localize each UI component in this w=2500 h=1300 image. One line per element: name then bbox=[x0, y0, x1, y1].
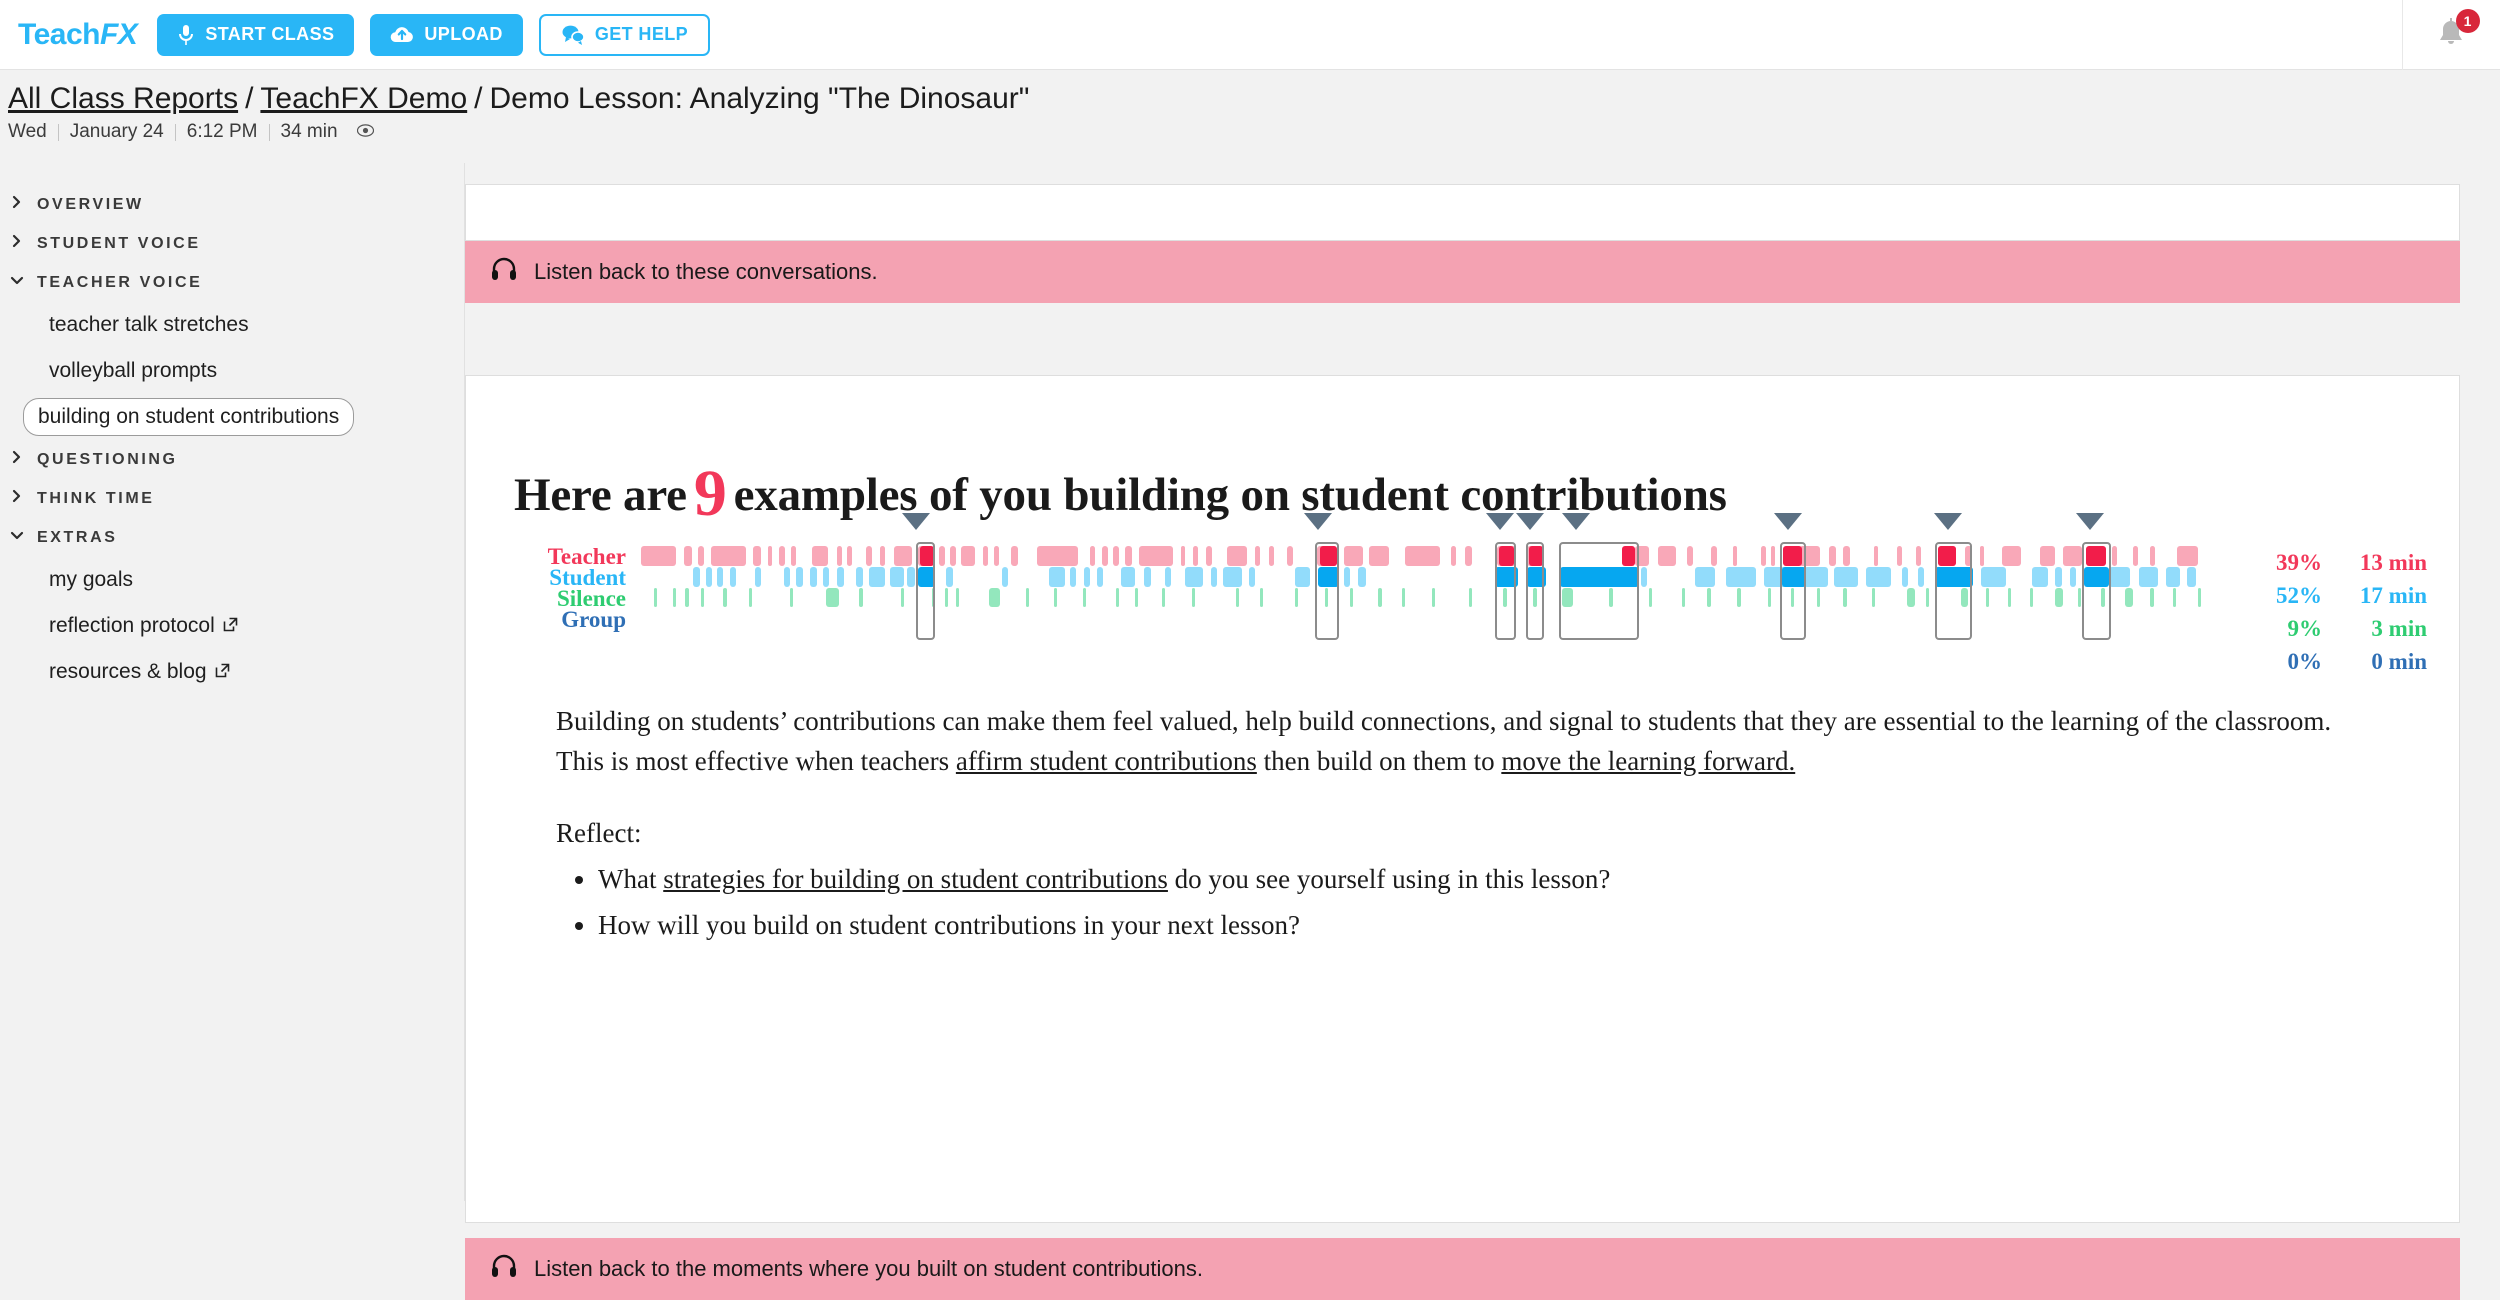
timeline-segment bbox=[791, 546, 796, 566]
timeline-legend: Teacher Student Silence Group bbox=[544, 546, 626, 630]
timeline-segment bbox=[753, 546, 761, 566]
chevron-right-icon bbox=[10, 234, 24, 253]
timeline-segment bbox=[673, 588, 676, 607]
timeline-segment bbox=[654, 588, 657, 607]
breadcrumb-area: All Class Reports/TeachFX Demo/Demo Less… bbox=[0, 70, 2500, 163]
timeline-segment bbox=[1162, 588, 1165, 607]
timeline-marker-icon[interactable] bbox=[1934, 513, 1962, 530]
timeline-segment bbox=[945, 588, 948, 607]
timeline-segment bbox=[1402, 588, 1405, 607]
timeline-segment bbox=[2055, 567, 2061, 587]
timeline-segment bbox=[1116, 588, 1119, 607]
timeline-row-silence bbox=[638, 588, 2220, 607]
link-strategies-for-building[interactable]: strategies for building on student contr… bbox=[663, 864, 1168, 894]
timeline-segment bbox=[859, 588, 862, 607]
timeline-segment bbox=[1658, 546, 1675, 566]
timeline-segment bbox=[2063, 546, 2082, 566]
breadcrumb-item-all-class-reports[interactable]: All Class Reports bbox=[8, 82, 238, 115]
timeline-highlight-box[interactable] bbox=[1526, 542, 1545, 640]
timeline-stats: 39% 13 min 52% 17 min 9% 3 min 0% 0 min bbox=[2256, 546, 2427, 678]
sidebar-group-label: QUESTIONING bbox=[37, 451, 178, 469]
description-paragraph: Building on students’ contributions can … bbox=[556, 702, 2366, 782]
breadcrumb-item-teachfx-demo[interactable]: TeachFX Demo bbox=[260, 82, 467, 115]
chat-bubbles-icon bbox=[561, 24, 585, 45]
sidebar-group-label: OVERVIEW bbox=[37, 196, 144, 214]
headphones-icon bbox=[491, 1254, 517, 1284]
timeline-segment bbox=[1378, 588, 1381, 607]
timeline-segment bbox=[1866, 567, 1891, 587]
link-move-learning-forward[interactable]: move the learning forward. bbox=[1501, 746, 1795, 776]
sidebar-item-building-on-student-contributions[interactable]: building on student contributions bbox=[23, 398, 354, 436]
chevron-right-icon bbox=[10, 195, 24, 214]
top-card bbox=[465, 184, 2460, 241]
timeline-segment bbox=[768, 546, 773, 566]
timeline-segment bbox=[961, 546, 975, 566]
timeline-segment bbox=[2150, 546, 2155, 566]
timeline-highlight-box[interactable] bbox=[2082, 542, 2110, 640]
sidebar-group-teacher-voice[interactable]: TEACHER VOICE bbox=[0, 263, 464, 302]
timeline-segment bbox=[1829, 546, 1835, 566]
timeline-segment bbox=[1916, 546, 1921, 566]
main-content: Listen back to these conversations. Here… bbox=[465, 163, 2500, 1201]
timeline-segment bbox=[1986, 588, 1989, 607]
sidebar-item-my-goals[interactable]: my goals bbox=[37, 561, 145, 599]
sidebar-item-label: my goals bbox=[49, 568, 133, 592]
timeline-segment bbox=[2032, 567, 2048, 587]
timeline-segment bbox=[826, 588, 839, 607]
timeline-segment bbox=[1083, 588, 1086, 607]
upload-label: UPLOAD bbox=[424, 24, 502, 45]
timeline-segment bbox=[1358, 567, 1366, 587]
timeline-segment bbox=[1054, 588, 1057, 607]
headline-count: 9 bbox=[687, 457, 734, 530]
timeline-segment bbox=[730, 567, 736, 587]
timeline-segment bbox=[1102, 546, 1108, 566]
stat-row-group: 0% 0 min bbox=[2256, 645, 2427, 678]
legend-label-teacher: Teacher bbox=[544, 546, 626, 567]
chevron-right-icon bbox=[10, 450, 24, 469]
timeline-segment bbox=[779, 546, 785, 566]
timeline-segment bbox=[847, 546, 852, 566]
timeline-segment bbox=[1090, 546, 1095, 566]
timeline-segment bbox=[2150, 588, 2153, 607]
notification-badge: 1 bbox=[2456, 9, 2480, 33]
stat-percent-student: 52% bbox=[2256, 579, 2322, 612]
top-bar: TeachFX START CLASS UPLOAD GET HELP 1 bbox=[0, 0, 2500, 70]
reflect-item-1-pre: How will you build on student contributi… bbox=[598, 910, 1300, 940]
sidebar-item-volleyball-prompts[interactable]: volleyball prompts bbox=[37, 352, 229, 390]
timeline-segment bbox=[1206, 546, 1212, 566]
timeline-segment bbox=[1737, 588, 1740, 607]
start-class-label: START CLASS bbox=[205, 24, 334, 45]
timeline-segment bbox=[880, 546, 885, 566]
lesson-time: 6:12 PM bbox=[176, 121, 269, 143]
timeline-segment bbox=[1227, 546, 1248, 566]
timeline-segment bbox=[1287, 546, 1293, 566]
timeline-row-group bbox=[638, 608, 2220, 626]
timeline-segment bbox=[983, 546, 988, 566]
sidebar: OVERVIEWSTUDENT VOICETEACHER VOICEteache… bbox=[0, 163, 465, 1201]
timeline-segment bbox=[994, 546, 999, 566]
timeline-segment bbox=[701, 588, 704, 607]
timeline-segment bbox=[1181, 546, 1186, 566]
timeline-segment bbox=[2139, 567, 2158, 587]
timeline-segment bbox=[1070, 567, 1076, 587]
listen-back-banner-top[interactable]: Listen back to these conversations. bbox=[465, 241, 2460, 303]
sidebar-item-teacher-talk-stretches[interactable]: teacher talk stretches bbox=[37, 306, 261, 344]
sidebar-item-label: reflection protocol bbox=[49, 614, 215, 638]
timeline-segment bbox=[1687, 546, 1693, 566]
timeline-segment bbox=[1768, 588, 1771, 607]
timeline-segment bbox=[2040, 546, 2056, 566]
timeline-segment bbox=[1260, 588, 1263, 607]
sidebar-item-label: volleyball prompts bbox=[49, 359, 217, 383]
timeline-segment bbox=[706, 567, 712, 587]
timeline-segment bbox=[1711, 546, 1717, 566]
legend-label-silence: Silence bbox=[544, 588, 626, 609]
timeline-segment bbox=[1726, 567, 1756, 587]
timeline-segment bbox=[1223, 567, 1242, 587]
lesson-date: January 24 bbox=[59, 121, 175, 143]
app-logo[interactable]: TeachFX bbox=[18, 18, 137, 52]
timeline-segment bbox=[1139, 546, 1172, 566]
timeline-segment bbox=[1451, 546, 1456, 566]
timeline-segment bbox=[1733, 546, 1738, 566]
headline-prefix: Here are bbox=[514, 469, 687, 521]
legend-label-group: Group bbox=[544, 609, 626, 630]
timeline-segment bbox=[796, 567, 802, 587]
sidebar-group-overview[interactable]: OVERVIEW bbox=[0, 185, 464, 224]
timeline-segment bbox=[749, 588, 752, 607]
breadcrumb-separator-1: / bbox=[245, 82, 253, 115]
breadcrumb: All Class Reports/TeachFX Demo/Demo Less… bbox=[8, 81, 2500, 116]
headphones-icon bbox=[491, 257, 517, 287]
timeline-segment bbox=[1369, 546, 1390, 566]
timeline-segment bbox=[1002, 567, 1008, 587]
stat-minutes-group: 0 min bbox=[2322, 645, 2427, 678]
timeline-segment bbox=[2078, 588, 2081, 607]
timeline-segment bbox=[1902, 567, 1908, 587]
listen-back-banner-bottom[interactable]: Listen back to the moments where you bui… bbox=[465, 1238, 2460, 1300]
timeline-segment bbox=[1249, 567, 1255, 587]
timeline-segment bbox=[1125, 546, 1131, 566]
timeline-segment bbox=[1432, 588, 1435, 607]
timeline-segment bbox=[2198, 588, 2201, 607]
start-class-button[interactable]: START CLASS bbox=[157, 14, 354, 56]
timeline-segment bbox=[894, 546, 911, 566]
timeline-segment bbox=[1695, 567, 1716, 587]
list-item: How will you build on student contributi… bbox=[598, 906, 2366, 946]
timeline-segment bbox=[901, 588, 904, 607]
external-link-icon bbox=[215, 660, 230, 684]
timeline-segment bbox=[1649, 588, 1652, 607]
timeline-segment bbox=[2166, 567, 2180, 587]
stat-row-silence: 9% 3 min bbox=[2256, 612, 2427, 645]
timeline-segment bbox=[698, 546, 704, 566]
lesson-day: Wed bbox=[8, 121, 58, 143]
timeline-segment bbox=[907, 567, 915, 587]
timeline-segment bbox=[866, 546, 872, 566]
timeline-segment bbox=[1897, 546, 1902, 566]
get-help-button[interactable]: GET HELP bbox=[539, 14, 710, 56]
timeline-segment bbox=[2030, 588, 2033, 607]
stat-row-teacher: 39% 13 min bbox=[2256, 546, 2427, 579]
timeline-segment bbox=[837, 546, 842, 566]
lesson-duration: 34 min bbox=[270, 121, 349, 143]
listen-back-banner-top-text: Listen back to these conversations. bbox=[534, 259, 878, 285]
sidebar-item-label: resources & blog bbox=[49, 660, 207, 684]
logo-text-italic: FX bbox=[100, 18, 137, 51]
timeline-segment bbox=[1344, 546, 1363, 566]
sidebar-item-reflection-protocol[interactable]: reflection protocol bbox=[37, 607, 250, 645]
timeline-highlight-box[interactable] bbox=[1559, 542, 1640, 640]
timeline-segment bbox=[1211, 567, 1217, 587]
timeline-segment bbox=[1185, 567, 1202, 587]
stat-minutes-silence: 3 min bbox=[2322, 612, 2427, 645]
talk-timeline-chart: Teacher Student Silence Group 39% 13 min… bbox=[466, 536, 2461, 666]
sidebar-group-think-time[interactable]: THINK TIME bbox=[0, 479, 464, 518]
chevron-down-icon bbox=[10, 273, 24, 292]
timeline-segment bbox=[685, 588, 688, 607]
stat-row-student: 52% 17 min bbox=[2256, 579, 2427, 612]
sidebar-group-label: THINK TIME bbox=[37, 490, 155, 508]
timeline-segment bbox=[1469, 588, 1472, 607]
sidebar-group-label: STUDENT VOICE bbox=[37, 235, 201, 253]
timeline-segment bbox=[1121, 567, 1135, 587]
timeline-highlight-box[interactable] bbox=[916, 542, 935, 640]
timeline-segment bbox=[890, 567, 904, 587]
sidebar-group-label: TEACHER VOICE bbox=[37, 274, 202, 292]
sidebar-item-resources-blog[interactable]: resources & blog bbox=[37, 653, 242, 691]
timeline-segment bbox=[1761, 546, 1766, 566]
timeline-segment bbox=[2125, 588, 2133, 607]
timeline-segment bbox=[1405, 546, 1440, 566]
timeline-segment bbox=[2173, 588, 2176, 607]
timeline-segment bbox=[810, 567, 816, 587]
timeline-segment bbox=[837, 567, 843, 587]
timeline-highlight-box[interactable] bbox=[1780, 542, 1805, 640]
timeline-segment bbox=[869, 567, 885, 587]
stat-minutes-teacher: 13 min bbox=[2322, 546, 2427, 579]
sidebar-item-label: building on student contributions bbox=[38, 405, 339, 429]
timeline-segment bbox=[1295, 588, 1298, 607]
timeline-segment bbox=[1193, 546, 1198, 566]
timeline-segment bbox=[711, 546, 746, 566]
timeline-segment bbox=[1135, 588, 1138, 607]
timeline-segment bbox=[950, 546, 956, 566]
reflect-item-0-pre: What bbox=[598, 864, 663, 894]
timeline-segment bbox=[723, 588, 726, 607]
timeline-segment bbox=[1084, 567, 1090, 587]
timeline-segment bbox=[1771, 546, 1776, 566]
timeline-marker-icon[interactable] bbox=[1486, 513, 1514, 530]
cloud-upload-icon bbox=[390, 25, 414, 45]
timeline-segment bbox=[1097, 567, 1103, 587]
notifications-button[interactable]: 1 bbox=[2402, 0, 2500, 70]
timeline-segment bbox=[1255, 546, 1260, 566]
timeline-canvas[interactable] bbox=[638, 536, 2220, 666]
timeline-segment bbox=[2109, 567, 2130, 587]
timeline-segment bbox=[641, 546, 676, 566]
stat-minutes-student: 17 min bbox=[2322, 579, 2427, 612]
timeline-segment bbox=[856, 567, 862, 587]
timeline-segment bbox=[1980, 546, 1985, 566]
sidebar-group-questioning[interactable]: QUESTIONING bbox=[0, 440, 464, 479]
listen-back-banner-bottom-text: Listen back to the moments where you bui… bbox=[534, 1256, 1203, 1282]
list-item: What strategies for building on student … bbox=[598, 860, 2366, 900]
sidebar-group-extras[interactable]: EXTRAS bbox=[0, 518, 464, 557]
timeline-segment bbox=[1026, 588, 1029, 607]
bell-icon bbox=[2435, 39, 2467, 56]
timeline-highlight-box[interactable] bbox=[1315, 542, 1339, 640]
timeline-segment bbox=[1926, 588, 1929, 607]
timeline-marker-icon[interactable] bbox=[1304, 513, 1332, 530]
timeline-segment bbox=[939, 546, 945, 566]
timeline-segment bbox=[1011, 546, 1017, 566]
timeline-marker-icon[interactable] bbox=[902, 513, 930, 530]
sidebar-group-student-voice[interactable]: STUDENT VOICE bbox=[0, 224, 464, 263]
reflect-list: What strategies for building on student … bbox=[598, 860, 2366, 946]
paragraph-part-2: then build on them to bbox=[1257, 746, 1501, 776]
lesson-meta: Wed January 24 6:12 PM 34 min bbox=[8, 121, 2500, 143]
timeline-row-student bbox=[638, 567, 2220, 587]
timeline-segment bbox=[755, 567, 761, 587]
timeline-segment bbox=[684, 546, 692, 566]
timeline-segment bbox=[1344, 567, 1350, 587]
upload-button[interactable]: UPLOAD bbox=[370, 14, 522, 56]
timeline-segment bbox=[1804, 567, 1828, 587]
timeline-segment bbox=[1236, 588, 1239, 607]
timeline-marker-icon[interactable] bbox=[1516, 513, 1544, 530]
timeline-segment bbox=[717, 567, 723, 587]
timeline-segment bbox=[1843, 588, 1846, 607]
legend-label-student: Student bbox=[544, 567, 626, 588]
timeline-segment bbox=[2008, 588, 2011, 607]
reflect-item-0-post: do you see yourself using in this lesson… bbox=[1168, 864, 1610, 894]
timeline-segment bbox=[1641, 567, 1647, 587]
sidebar-item-label: teacher talk stretches bbox=[49, 313, 249, 337]
timeline-segment bbox=[2187, 567, 2196, 587]
timeline-segment bbox=[812, 546, 828, 566]
timeline-segment bbox=[790, 588, 793, 607]
get-help-label: GET HELP bbox=[595, 24, 688, 45]
timeline-segment bbox=[1682, 588, 1685, 607]
timeline-segment bbox=[956, 588, 959, 607]
timeline-segment bbox=[1113, 546, 1119, 566]
timeline-segment bbox=[693, 567, 699, 587]
logo-text-plain: Teach bbox=[18, 18, 100, 51]
timeline-marker-icon[interactable] bbox=[1774, 513, 1802, 530]
timeline-segment bbox=[2177, 546, 2198, 566]
stat-percent-silence: 9% bbox=[2256, 612, 2322, 645]
timeline-segment bbox=[989, 588, 1000, 607]
timeline-segment bbox=[1707, 588, 1710, 607]
timeline-segment bbox=[1165, 567, 1171, 587]
timeline-segment bbox=[1037, 546, 1078, 566]
timeline-segment bbox=[2070, 567, 2076, 587]
eye-icon[interactable] bbox=[357, 121, 374, 143]
timeline-marker-icon[interactable] bbox=[1562, 513, 1590, 530]
timeline-marker-icon[interactable] bbox=[2076, 513, 2104, 530]
timeline-highlight-box[interactable] bbox=[1935, 542, 1971, 640]
stat-percent-group: 0% bbox=[2256, 645, 2322, 678]
reflect-label: Reflect: bbox=[556, 814, 2366, 854]
timeline-segment bbox=[1918, 567, 1924, 587]
timeline-segment bbox=[1465, 546, 1471, 566]
timeline-segment bbox=[1144, 567, 1150, 587]
timeline-segment bbox=[1049, 567, 1065, 587]
timeline-segment bbox=[784, 567, 790, 587]
timeline-segment bbox=[2112, 546, 2117, 566]
stat-percent-teacher: 39% bbox=[2256, 546, 2322, 579]
breadcrumb-item-current: Demo Lesson: Analyzing "The Dinosaur" bbox=[490, 82, 1030, 115]
chevron-right-icon bbox=[10, 489, 24, 508]
timeline-segment bbox=[1907, 588, 1915, 607]
timeline-segment bbox=[1269, 546, 1274, 566]
timeline-segment bbox=[1817, 588, 1820, 607]
timeline-segment bbox=[1874, 546, 1879, 566]
page-title: Here are9examples of you building on stu… bbox=[514, 456, 1727, 532]
chevron-down-icon bbox=[10, 528, 24, 547]
microphone-icon bbox=[177, 24, 195, 46]
timeline-segment bbox=[1192, 588, 1195, 607]
timeline-segment bbox=[1872, 588, 1875, 607]
timeline-segment bbox=[823, 567, 829, 587]
description-text: Building on students’ contributions can … bbox=[556, 702, 2366, 946]
timeline-segment bbox=[1843, 546, 1849, 566]
external-link-icon bbox=[223, 614, 238, 638]
timeline-segment bbox=[2133, 546, 2138, 566]
timeline-segment bbox=[2002, 546, 2021, 566]
timeline-segment bbox=[2055, 588, 2063, 607]
link-affirm-student-contributions[interactable]: affirm student contributions bbox=[956, 746, 1257, 776]
timeline-segment bbox=[1834, 567, 1858, 587]
timeline-highlight-box[interactable] bbox=[1495, 542, 1516, 640]
timeline-row-teacher bbox=[638, 546, 2220, 566]
timeline-segment bbox=[1981, 567, 2006, 587]
report-card: Here are9examples of you building on stu… bbox=[465, 375, 2460, 1223]
timeline-segment bbox=[1350, 588, 1353, 607]
timeline-segment bbox=[1295, 567, 1311, 587]
timeline-segment bbox=[946, 567, 952, 587]
sidebar-group-label: EXTRAS bbox=[37, 529, 118, 547]
breadcrumb-separator-2: / bbox=[474, 82, 482, 115]
